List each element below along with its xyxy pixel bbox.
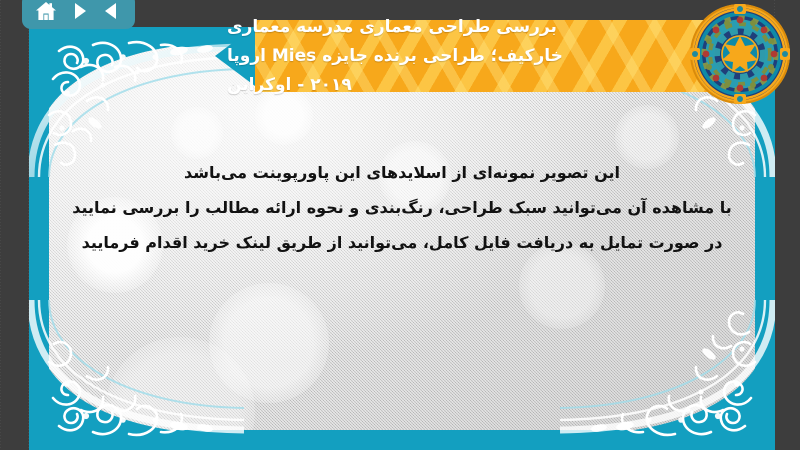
- medallion-ornament-icon: [688, 2, 792, 106]
- slide-title: بررسی طراحی معماری مدرسه معماری خارکیف؛ …: [215, 6, 715, 106]
- caret-left-icon: [102, 1, 122, 21]
- slide-title-banner: بررسی طراحی معماری مدرسه معماری خارکیف؛ …: [215, 6, 715, 106]
- home-icon: [35, 1, 57, 22]
- next-slide-button[interactable]: [64, 0, 94, 24]
- body-line: در صورت تمایل به دریافت فایل کامل، می‌تو…: [59, 225, 745, 260]
- body-line: با مشاهده آن می‌توانید سبک طراحی، رنگ‌بن…: [59, 190, 745, 225]
- navigation-toolbar[interactable]: [22, 0, 135, 29]
- title-line: خارکیف؛ طراحی برنده جایزه Mies اروپا: [227, 42, 563, 71]
- title-line: ۲۰۱۹ - اوکراین: [227, 71, 352, 100]
- slide-body-text: این تصویر نمونه‌ای از اسلایدهای این پاور…: [59, 155, 745, 260]
- body-line: این تصویر نمونه‌ای از اسلایدهای این پاور…: [59, 155, 745, 190]
- title-line: بررسی طراحی معماری مدرسه معماری: [227, 13, 557, 42]
- home-button[interactable]: [31, 0, 61, 24]
- slide-viewer: این تصویر نمونه‌ای از اسلایدهای این پاور…: [0, 0, 800, 450]
- caret-right-icon: [69, 1, 89, 21]
- previous-slide-button[interactable]: [97, 0, 127, 24]
